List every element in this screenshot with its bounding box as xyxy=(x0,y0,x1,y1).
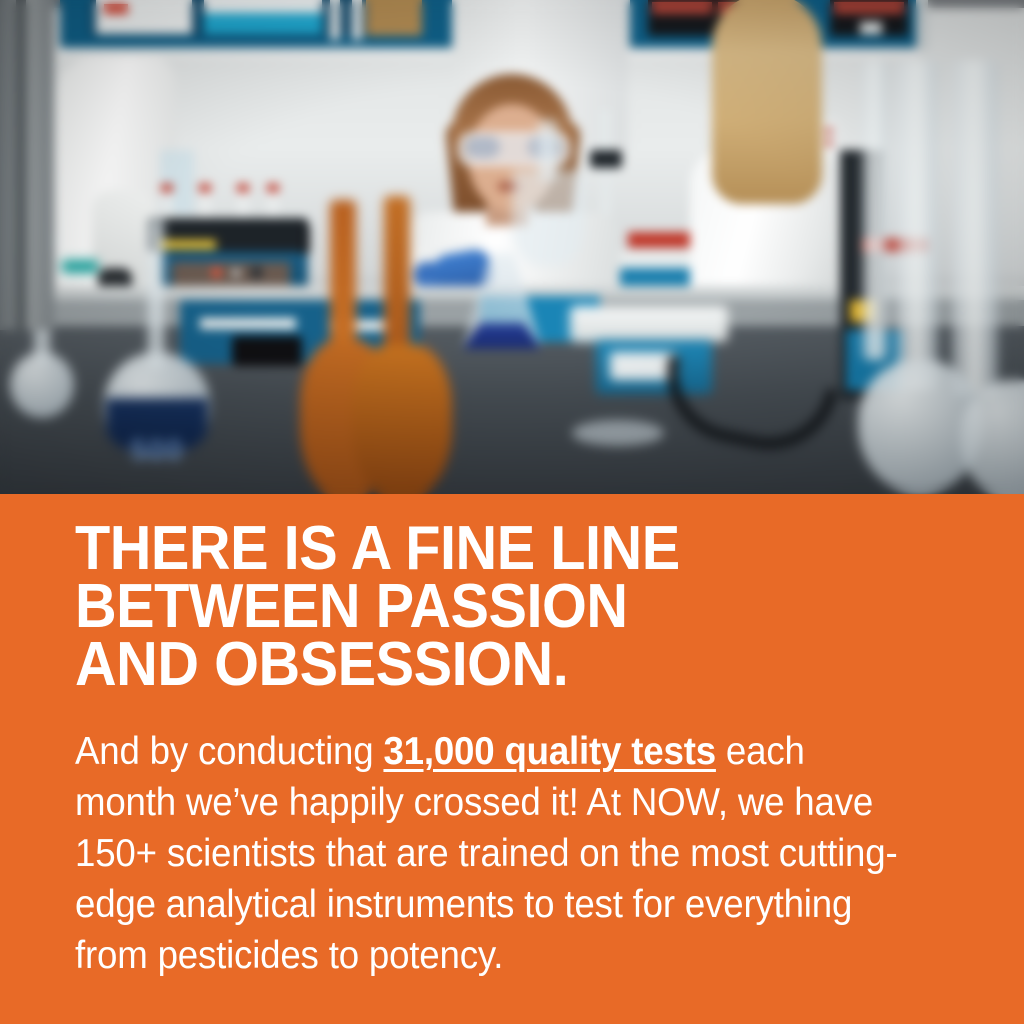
body-copy-lead: And by conducting xyxy=(75,730,383,773)
photo-blur-overlay xyxy=(0,0,1024,494)
orange-text-panel: THERE IS A FINE LINE BETWEEN PASSION AND… xyxy=(0,494,1024,1024)
promo-poster: 500 THERE IS A FINE LINE BETWEEN PASSION… xyxy=(0,0,1024,1024)
lab-photo: 500 xyxy=(0,0,1024,494)
stat-highlight: 31,000 quality tests xyxy=(383,730,715,773)
body-copy: And by conducting 31,000 quality tests e… xyxy=(75,726,902,981)
page-title: THERE IS A FINE LINE BETWEEN PASSION AND… xyxy=(75,520,912,694)
